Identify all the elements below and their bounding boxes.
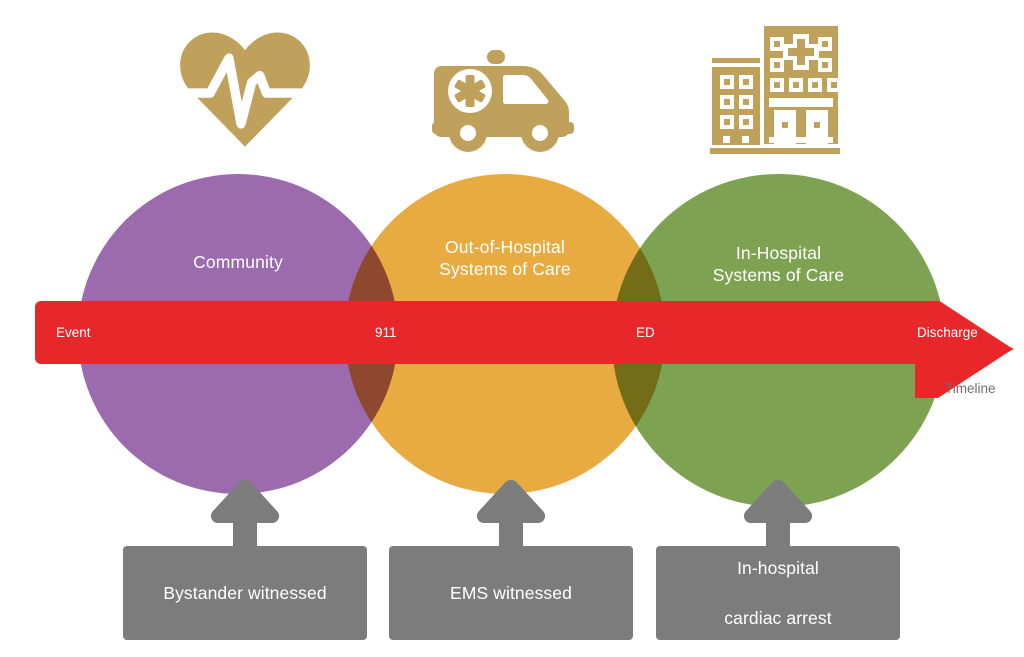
source-box-in-hospital-arrest-label: In-hospital cardiac arrest [704,556,851,631]
source-box-in-hospital-arrest[interactable]: In-hospital cardiac arrest [656,546,900,640]
source-box-bystander-label: Bystander witnessed [153,581,336,606]
timeline-milestone-event: Event [56,301,91,364]
source-box-ems[interactable]: EMS witnessed [389,546,633,640]
source-box-ems-label: EMS witnessed [440,581,582,606]
diagram-canvas: Community Out-of-Hospital Systems of Car… [0,0,1024,657]
timeline-milestone-discharge: Discharge [917,301,978,364]
timeline-milestone-ed: ED [636,301,655,364]
timeline-milestone-911: 911 [375,301,397,364]
circle-in-hospital-label: In-Hospital Systems of Care [612,242,945,286]
up-arrow-bystander [207,478,283,554]
timeline-caption: Timeline [945,381,996,396]
timeline-milestones: Event 911 ED Discharge [35,301,1014,364]
up-arrow-in-hospital-arrest [740,478,816,554]
up-arrow-ems [473,478,549,554]
timeline-arrow[interactable]: Event 911 ED Discharge [35,301,1014,398]
circle-out-of-hospital-label: Out-of-Hospital Systems of Care [345,236,665,280]
source-box-line-1: In-hospital [714,556,841,581]
source-box-line-2: cardiac arrest [714,606,841,631]
source-box-bystander[interactable]: Bystander witnessed [123,546,367,640]
circle-community-label: Community [78,251,398,273]
